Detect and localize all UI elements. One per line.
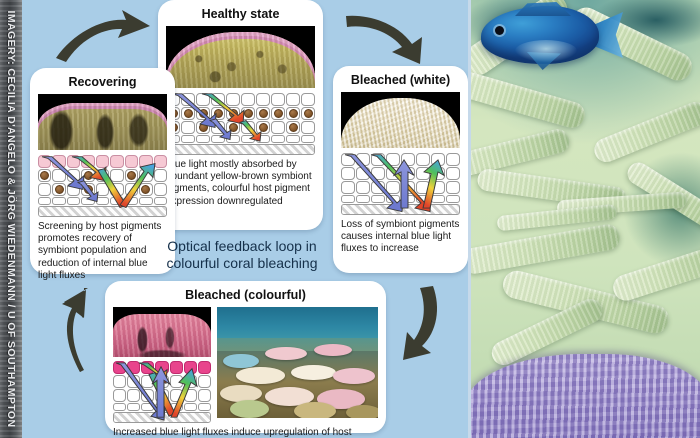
loop-caption: Optical feedback loop in colourful coral… (158, 238, 326, 272)
cell-row-basal (113, 403, 211, 411)
coral-photo-healthy (166, 26, 315, 88)
cell-row-outer (166, 93, 315, 106)
panel-recovering-title: Recovering (38, 75, 167, 90)
panel-recovering: Recovering (30, 68, 175, 274)
panel-bleached-white-title: Bleached (white) (341, 73, 460, 88)
skeleton-layer (38, 206, 167, 217)
skeleton-layer (166, 144, 315, 155)
cell-row-empty-1 (113, 375, 211, 388)
cell-row-symbiont-recovering-2 (38, 183, 167, 196)
coral-photo-recovering (38, 94, 167, 150)
panel-healthy-state: Healthy state (158, 0, 323, 230)
flow-arrow-bleached-white-to-colourful (389, 282, 451, 368)
cell-row-host-pigment-magenta (113, 361, 211, 374)
flow-arrow-recovering-to-healthy (52, 8, 152, 64)
purple-coral (468, 354, 700, 438)
loop-caption-line-2: colourful coral bleaching (158, 255, 326, 272)
coral-photo-bleached-colourful (113, 307, 211, 357)
skeleton-layer (113, 412, 211, 423)
cell-row-empty-2 (341, 167, 460, 180)
cell-row-empty-3 (341, 181, 460, 194)
flow-arrow-colourful-to-recovering (28, 288, 94, 376)
panel-bleached-white-caption: Loss of symbiont pigments causes interna… (341, 219, 460, 256)
panel-bleached-white: Bleached (white) (333, 66, 468, 273)
skeleton-layer (341, 204, 460, 215)
cell-row-empty-2 (113, 389, 211, 402)
cell-row-basal (166, 135, 315, 143)
reef-photo-bleached (217, 307, 378, 418)
panel-bleached-colourful: Bleached (colourful) (105, 281, 386, 433)
cell-row-basal (38, 197, 167, 205)
tissue-diagram-healthy (166, 93, 315, 155)
coral-photo-bleached-white (341, 92, 460, 148)
tissue-diagram-recovering (38, 155, 167, 217)
fish-belly (515, 40, 577, 62)
cell-row-symbiont-dense (166, 107, 315, 120)
cell-row-symbiont-sparse (166, 121, 315, 134)
flow-arrow-healthy-to-bleached-white (340, 6, 446, 66)
panel-recovering-caption: Screening by host pigments promotes reco… (38, 221, 167, 282)
cell-row-empty-1 (341, 153, 460, 166)
reef-photograph (468, 0, 700, 438)
tissue-diagram-bleached-white (341, 153, 460, 215)
panel-bleached-colourful-title: Bleached (colourful) (113, 288, 378, 303)
cell-row-host-pigment (38, 155, 167, 168)
tissue-diagram-bleached-colourful (113, 361, 211, 423)
imagery-credit: IMAGERY: CECILIA D'ANGELO & JÖRG WIEDENM… (5, 11, 17, 428)
cell-row-symbiont-recovering-1 (38, 169, 167, 182)
loop-caption-line-1: Optical feedback loop in (158, 238, 326, 255)
panel-healthy-caption: Blue light mostly absorbed by abundant y… (166, 159, 315, 208)
cell-row-basal (341, 195, 460, 203)
panel-bleached-colourful-caption: Increased blue light fluxes induce upreg… (113, 427, 378, 438)
coral-bleaching-figure: IMAGERY: CECILIA D'ANGELO & JÖRG WIEDENM… (0, 0, 700, 438)
fish-eye (495, 26, 504, 35)
panel-healthy-title: Healthy state (166, 7, 315, 22)
credit-strip: IMAGERY: CECILIA D'ANGELO & JÖRG WIEDENM… (0, 0, 22, 438)
